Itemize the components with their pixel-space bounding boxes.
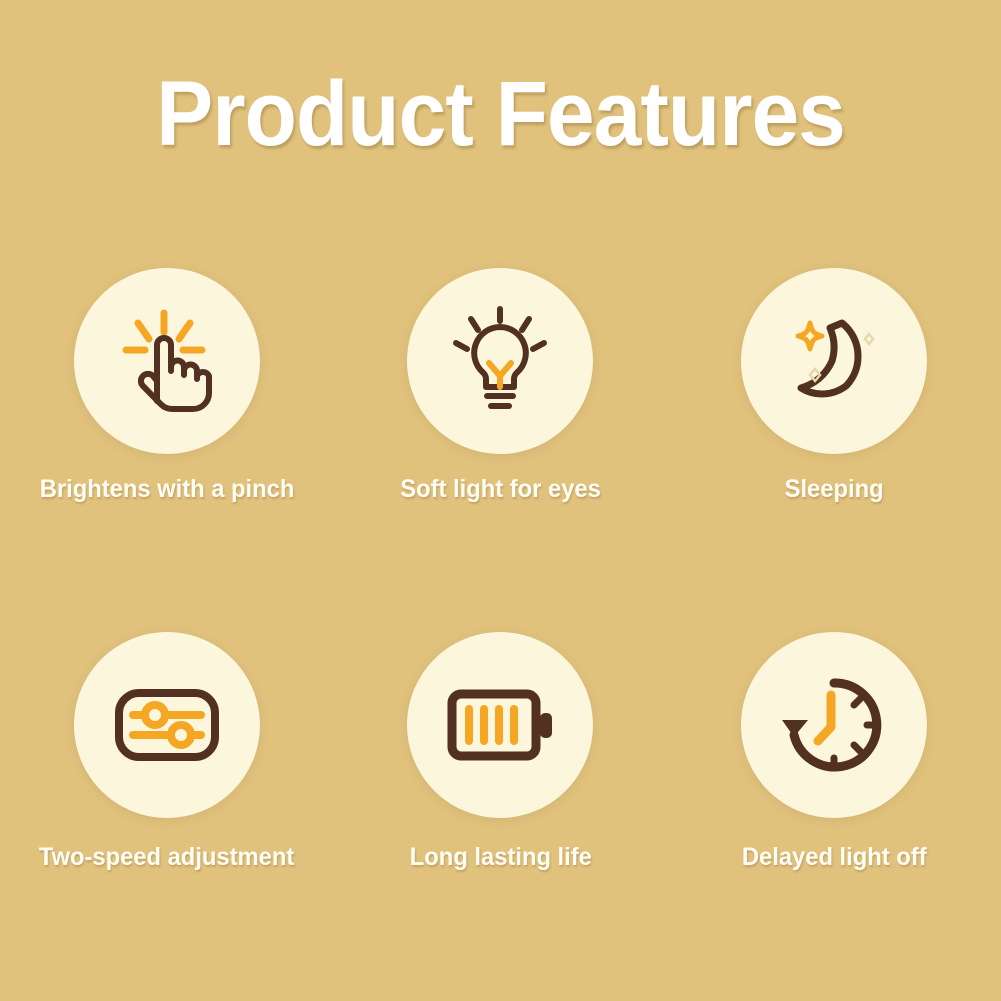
feature-item-long-lasting-life: Long lasting life — [334, 632, 668, 996]
feature-label: Long lasting life — [409, 844, 591, 872]
light-bulb-icon — [440, 301, 560, 421]
slider-settings-icon — [107, 665, 227, 785]
feature-label: Soft light for eyes — [400, 476, 601, 504]
feature-item-soft-light-for-eyes: Soft light for eyes — [334, 268, 668, 632]
pointing-hand-tap-icon — [107, 301, 227, 421]
page-title: Product Features — [35, 66, 966, 163]
feature-icon-circle — [741, 632, 927, 818]
feature-item-brightens-with-a-pinch: Brightens with a pinch — [0, 268, 334, 632]
feature-icon-circle — [407, 268, 593, 454]
feature-item-two-speed-adjustment: Two-speed adjustment — [0, 632, 334, 996]
feature-icon-circle — [741, 268, 927, 454]
crescent-moon-stars-icon — [774, 301, 894, 421]
battery-full-icon — [440, 665, 560, 785]
feature-grid: Brightens with a pinch — [0, 268, 1001, 996]
feature-label: Two-speed adjustment — [39, 844, 295, 872]
clock-timer-arrow-icon — [774, 665, 894, 785]
feature-label: Delayed light off — [742, 844, 927, 872]
feature-icon-circle — [74, 268, 260, 454]
feature-item-sleeping: Sleeping — [667, 268, 1001, 632]
feature-label: Brightens with a pinch — [39, 476, 294, 504]
feature-item-delayed-light-off: Delayed light off — [667, 632, 1001, 996]
feature-icon-circle — [407, 632, 593, 818]
feature-label: Sleeping — [785, 476, 884, 504]
feature-icon-circle — [74, 632, 260, 818]
